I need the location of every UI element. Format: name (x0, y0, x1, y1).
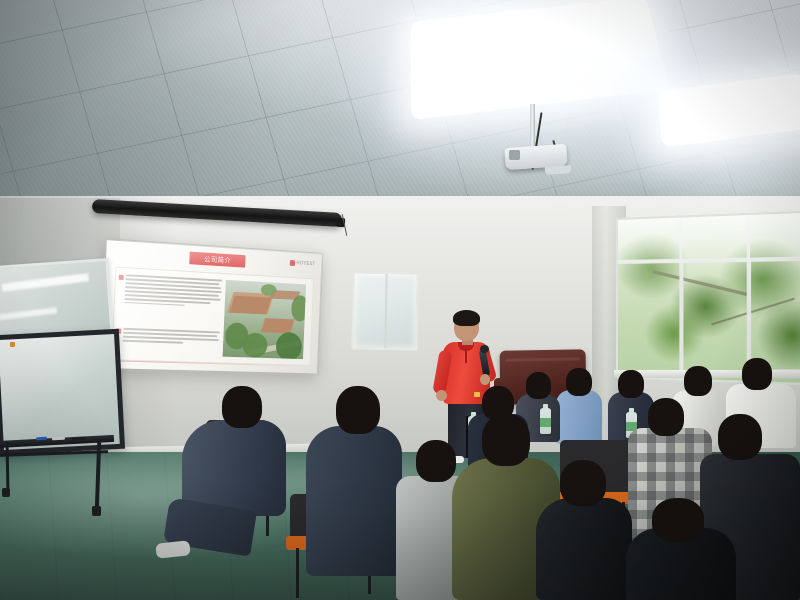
attendee-top (536, 498, 632, 600)
whiteboard-reflection (1, 274, 89, 293)
attendee-head (482, 414, 530, 466)
interior-glass-panel (351, 271, 418, 350)
presenter-placket (465, 348, 467, 363)
chair-leg (296, 548, 299, 598)
projection-screen: 公司简介 HOYEST (101, 240, 321, 373)
attendee-head (526, 372, 551, 399)
presenter-left-hand (436, 390, 447, 401)
whiteboard-caster-wheel (2, 488, 10, 497)
attendee-top (306, 426, 402, 576)
attendee-shoe (155, 540, 190, 558)
attendee-head (742, 358, 772, 390)
screen-frame (99, 238, 323, 375)
attendee-head (566, 368, 592, 396)
attendee-head (652, 498, 704, 542)
attendee-head (618, 370, 644, 398)
attendee-head (684, 366, 712, 396)
training-room-photo: 公司简介 HOYEST (0, 0, 800, 600)
attendee-front-black (626, 498, 736, 600)
microphone-head-icon (480, 345, 489, 353)
attendee-front-navy (306, 386, 402, 576)
whiteboard-marker (36, 437, 47, 441)
attendee-top (556, 390, 602, 444)
whiteboard-sheen (0, 334, 120, 450)
attendee-navy-polo (182, 386, 286, 566)
attendee-head (222, 386, 262, 428)
whiteboard-magnet (10, 342, 15, 347)
projector-mount-pole (530, 104, 535, 150)
attendee-head (336, 386, 380, 434)
attendee-head (416, 440, 456, 482)
attendee-blue-tee (556, 368, 602, 444)
whiteboard-caster-wheel (92, 506, 101, 516)
presenter-right-hand (480, 374, 490, 385)
presenter-hair (453, 310, 480, 326)
attendee-black-tee (536, 460, 632, 600)
projector-lens (509, 150, 520, 160)
attendee-head (718, 414, 762, 460)
whiteboard-reflection (0, 307, 58, 320)
attendee-head (560, 460, 606, 506)
attendee-head (648, 398, 684, 436)
